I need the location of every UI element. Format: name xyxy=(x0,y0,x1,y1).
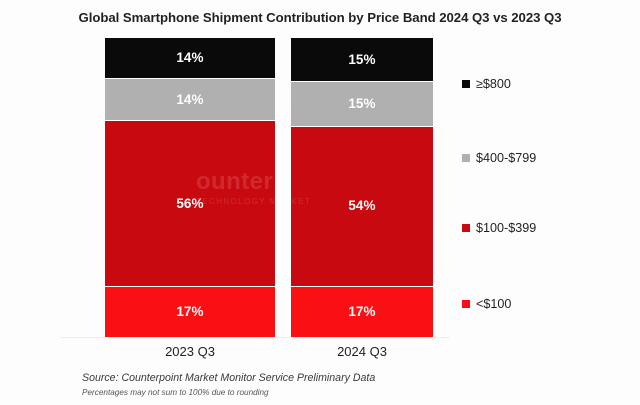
bar-segment-value: 15% xyxy=(348,97,375,111)
bar-segment-value: 56% xyxy=(176,197,203,211)
bar-segment-value: 54% xyxy=(348,199,375,213)
legend-item-label: $100-$399 xyxy=(476,222,536,235)
bar-segment-value: 17% xyxy=(176,305,203,319)
legend-swatch-icon xyxy=(462,300,470,308)
legend-item-800-plus[interactable]: ≥$800 xyxy=(462,78,511,91)
x-axis-label-2024-q3: 2024 Q3 xyxy=(291,344,433,359)
bar-segment-value: 15% xyxy=(348,53,375,67)
stacked-bar-2023-q3[interactable]: 14% 14% 56% 17% xyxy=(105,38,275,337)
chart-legend: ≥$800 $400-$799 $100-$399 <$100 xyxy=(460,0,640,405)
rounding-note: Percentages may not sum to 100% due to r… xyxy=(82,388,269,397)
bar-segment-under-100[interactable]: 17% xyxy=(291,287,433,337)
plot-area: 14% 14% 56% 17% 15% 15% 54% 17 xyxy=(0,0,460,405)
legend-item-label: <$100 xyxy=(476,298,511,311)
bar-segment-800-plus[interactable]: 14% xyxy=(105,38,275,79)
legend-item-label: ≥$800 xyxy=(476,78,511,91)
x-axis-label-2023-q3: 2023 Q3 xyxy=(105,344,275,359)
bar-segment-value: 14% xyxy=(176,93,203,107)
bar-segment-100-399[interactable]: 56% xyxy=(105,121,275,287)
bar-segment-under-100[interactable]: 17% xyxy=(105,287,275,337)
bar-segment-value: 17% xyxy=(348,305,375,319)
legend-swatch-icon xyxy=(462,224,470,232)
legend-swatch-icon xyxy=(462,154,470,162)
bar-segment-value: 14% xyxy=(176,51,203,65)
legend-swatch-icon xyxy=(462,80,470,88)
legend-item-100-399[interactable]: $100-$399 xyxy=(462,222,536,235)
bar-segment-800-plus[interactable]: 15% xyxy=(291,38,433,82)
source-note: Source: Counterpoint Market Monitor Serv… xyxy=(82,372,375,384)
legend-item-under-100[interactable]: <$100 xyxy=(462,298,511,311)
axis-baseline xyxy=(60,337,450,338)
bar-segment-400-799[interactable]: 15% xyxy=(291,82,433,126)
chart-figure: Global Smartphone Shipment Contribution … xyxy=(0,0,640,405)
legend-item-400-799[interactable]: $400-$799 xyxy=(462,152,536,165)
bar-segment-400-799[interactable]: 14% xyxy=(105,79,275,120)
legend-item-label: $400-$799 xyxy=(476,152,536,165)
stacked-bar-2024-q3[interactable]: 15% 15% 54% 17% xyxy=(291,38,433,337)
bar-segment-100-399[interactable]: 54% xyxy=(291,127,433,287)
